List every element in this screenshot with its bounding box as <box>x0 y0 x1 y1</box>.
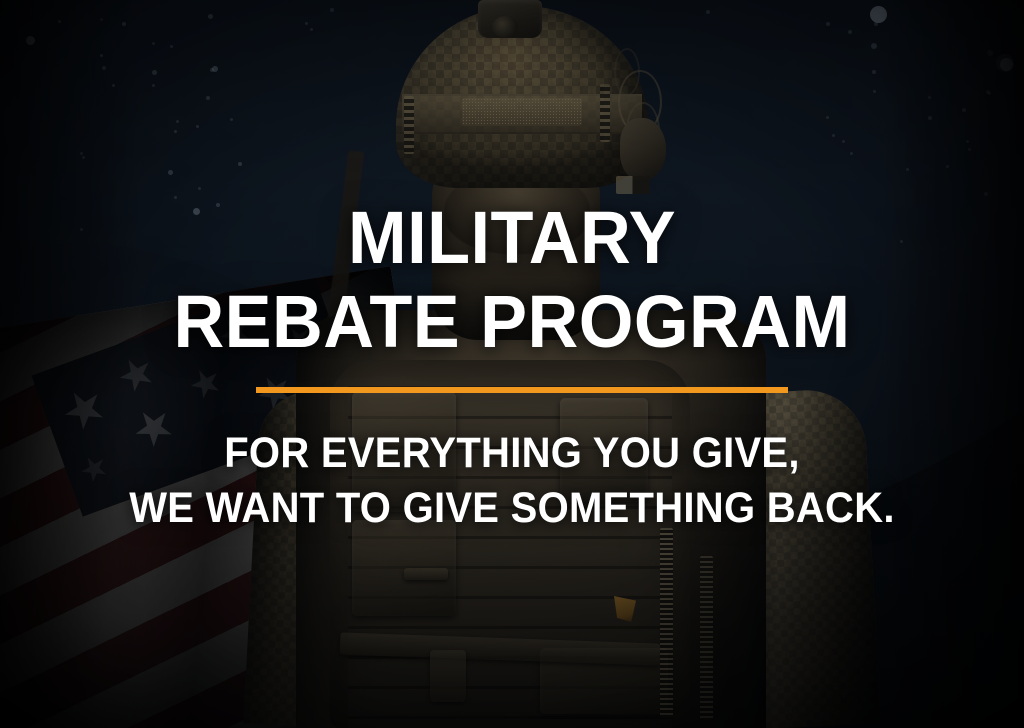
subtitle-line-2: WE WANT TO GIVE SOMETHING BACK. <box>36 487 988 530</box>
accent-divider <box>256 387 788 393</box>
banner-content: MILITARY REBATE PROGRAM FOR EVERYTHING Y… <box>0 0 1024 728</box>
headline-line-2: REBATE PROGRAM <box>26 286 999 357</box>
headline-line-1: MILITARY <box>26 202 999 273</box>
subtitle-line-1: FOR EVERYTHING YOU GIVE, <box>36 432 988 475</box>
military-rebate-banner: MILITARY REBATE PROGRAM FOR EVERYTHING Y… <box>0 0 1024 728</box>
